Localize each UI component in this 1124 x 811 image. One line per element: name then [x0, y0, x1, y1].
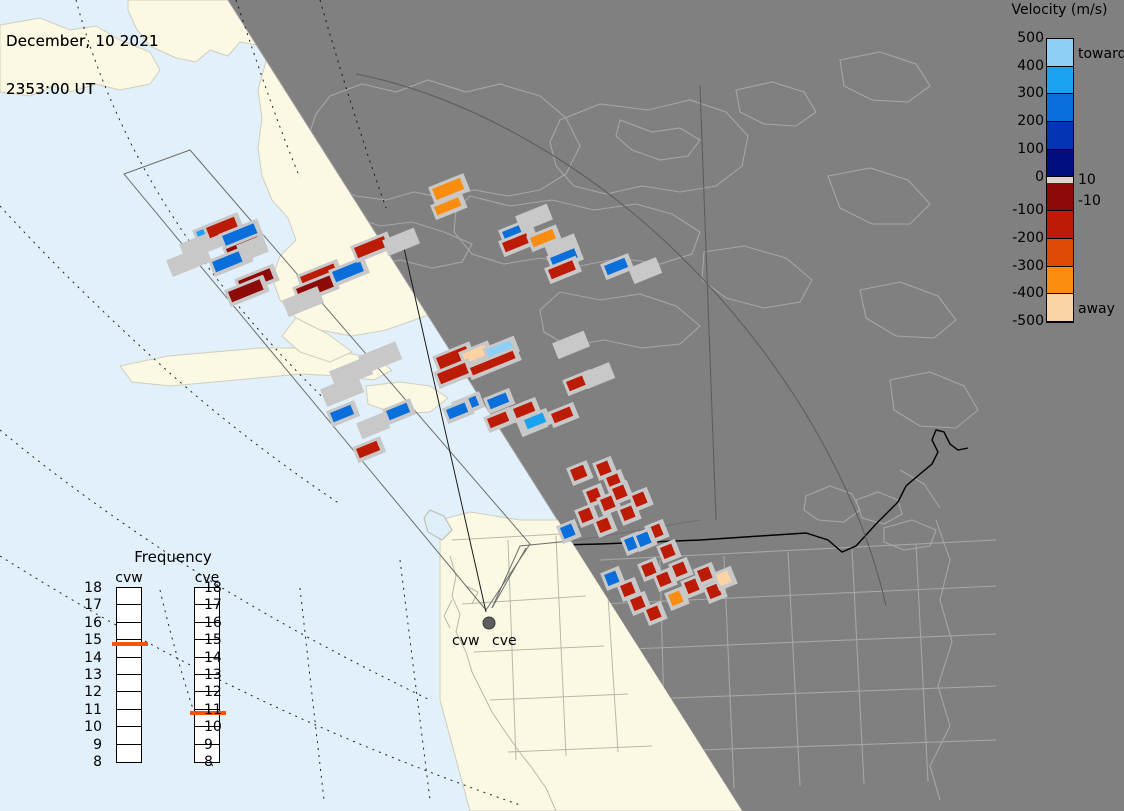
frequency-tick-label-cvw: 10	[80, 721, 102, 733]
frequency-tick-label-cve: 14	[204, 652, 222, 664]
colorbar-tick-label: -100	[998, 202, 1044, 218]
frequency-tick-label-cvw: 16	[80, 617, 102, 629]
frequency-cell	[117, 675, 141, 692]
colorbar-tick-label: 0	[998, 169, 1044, 185]
radar-site-marker[interactable]	[483, 617, 495, 629]
frequency-cell	[117, 710, 141, 727]
colorbar-tick-label: 300	[998, 85, 1044, 101]
site-label-cvw: cvw	[452, 633, 479, 649]
timestamp: December, 10 2021 2353:00 UT	[6, 1, 159, 129]
colorbar-tick-label: 500	[998, 30, 1044, 46]
frequency-tick-label-cvw: 11	[80, 704, 102, 716]
colorbar-segment	[1047, 294, 1073, 322]
colorbar-tick-label: 100	[998, 141, 1044, 157]
colorbar-segment	[1047, 239, 1073, 267]
frequency-cell	[117, 658, 141, 675]
frequency-tick-label-cvw: 13	[80, 669, 102, 681]
frequency-tick-label-cvw: 18	[80, 582, 102, 594]
frequency-marker	[112, 642, 148, 646]
colorbar-segment	[1047, 67, 1073, 95]
site-label-cve: cve	[492, 633, 517, 649]
frequency-tick-label-cvw: 9	[80, 739, 102, 751]
frequency-bar-cvw-label: cvw	[94, 570, 164, 587]
colorbar-segment	[1047, 94, 1073, 122]
colorbar-tick-label: -300	[998, 258, 1044, 274]
colorbar-segment	[1047, 122, 1073, 150]
colorbar-panel: Velocity (m/s) 5004003002001000-100-200-…	[996, 0, 1124, 811]
colorbar-segment	[1047, 183, 1073, 211]
colorbar-title: Velocity (m/s)	[992, 2, 1124, 18]
frequency-tick-label-cve: 11	[204, 704, 222, 716]
colorbar-toward-label: toward	[1078, 46, 1124, 62]
colorbar-segment	[1047, 39, 1073, 67]
frequency-cell	[117, 692, 141, 709]
frequency-cell	[117, 588, 141, 605]
frequency-tick-label-cve: 10	[204, 721, 222, 733]
colorbar-tick-label: 400	[998, 58, 1044, 74]
frequency-tick-label-cve: 17	[204, 599, 222, 611]
frequency-cell	[117, 745, 141, 762]
colorbar-tick-label: -400	[998, 285, 1044, 301]
colorbar-segment	[1047, 211, 1073, 239]
frequency-cell	[117, 605, 141, 622]
colorbar-neg-threshold-label: -10	[1078, 193, 1101, 209]
frequency-tick-label-cve: 16	[204, 617, 222, 629]
frequency-tick-label-cve: 8	[204, 756, 213, 768]
frequency-tick-label-cve: 18	[204, 582, 222, 594]
frequency-bar-cvw[interactable]: cvw	[94, 570, 164, 763]
frequency-tick-label-cve: 13	[204, 669, 222, 681]
superdarn-velocity-map: cvw cve Frequency cvw cve 18181717161615…	[0, 0, 1124, 811]
colorbar-away-label: away	[1078, 301, 1115, 317]
colorbar-tick-label: 200	[998, 113, 1044, 129]
frequency-tick-label-cve: 15	[204, 634, 222, 646]
timestamp-date: December, 10 2021	[6, 33, 159, 49]
frequency-tick-label-cvw: 17	[80, 599, 102, 611]
colorbar-tick-label: -200	[998, 230, 1044, 246]
frequency-bar-cvw-track	[116, 587, 142, 763]
frequency-legend: Frequency cvw cve 1818171716161515141413…	[88, 548, 258, 786]
frequency-tick-label-cvw: 14	[80, 652, 102, 664]
frequency-tick-label-cve: 12	[204, 686, 222, 698]
colorbar-segment	[1047, 267, 1073, 295]
timestamp-time: 2353:00 UT	[6, 81, 159, 97]
frequency-tick-label-cve: 9	[204, 739, 213, 751]
frequency-tick-label-cvw: 15	[80, 634, 102, 646]
colorbar-pos-threshold-label: 10	[1078, 172, 1096, 188]
frequency-tick-label-cvw: 8	[80, 756, 102, 768]
colorbar-track[interactable]	[1046, 38, 1074, 323]
frequency-legend-title: Frequency	[88, 548, 258, 566]
frequency-tick-label-cvw: 12	[80, 686, 102, 698]
frequency-cell	[117, 623, 141, 640]
colorbar-tick-label: -500	[998, 313, 1044, 329]
colorbar-segment	[1047, 150, 1073, 178]
frequency-cell	[117, 727, 141, 744]
